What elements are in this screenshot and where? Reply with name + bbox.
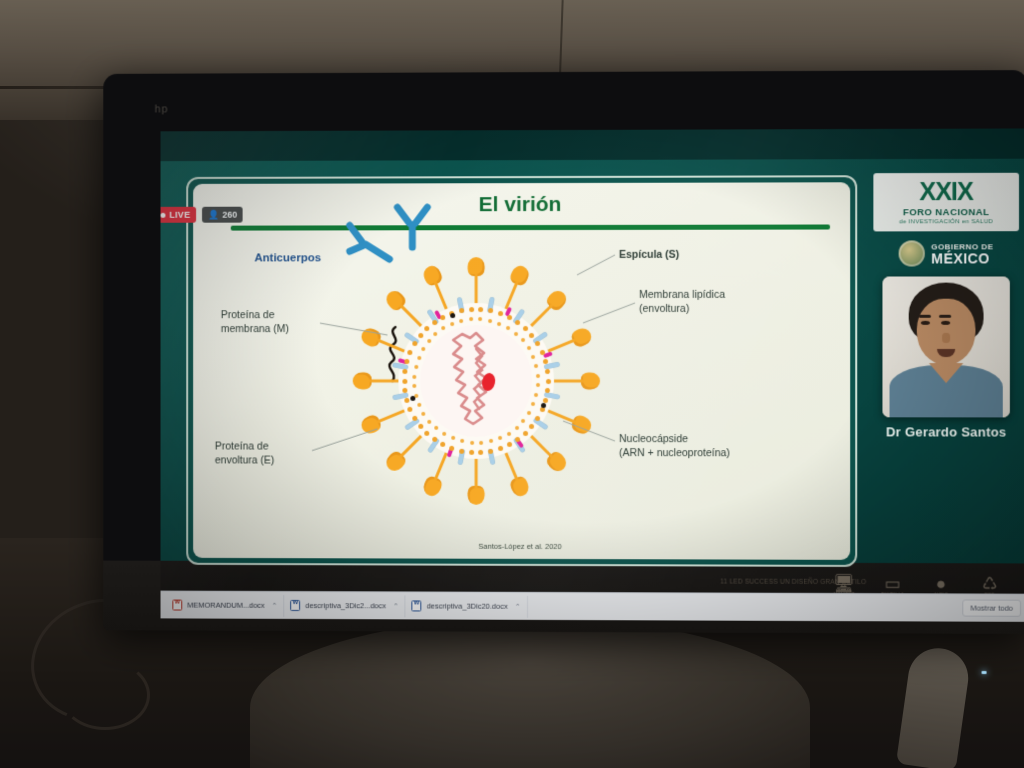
recycle-glyph-icon: ♺ (972, 575, 1006, 592)
download-filename-1: MEMORANDUM...docx (187, 601, 265, 610)
leader-lines (193, 182, 850, 560)
download-bar: MEMORANDUM...docx ⌃ descriptiva_3Dic2...… (161, 591, 1024, 622)
speaker-brow-left (919, 315, 931, 318)
event-logo-roman: XXIX (877, 180, 1015, 205)
live-dot-icon (161, 212, 166, 217)
stream-topbar (161, 128, 1024, 161)
live-badge: LIVE (161, 207, 197, 223)
presentation-slide: El virión (193, 182, 850, 560)
download-chip-1[interactable]: MEMORANDUM...docx ⌃ (166, 594, 284, 616)
speaker-eye-left (921, 321, 930, 325)
speaker-webcam-feed[interactable] (882, 276, 1009, 417)
presentation-slide-frame: El virión (186, 175, 857, 567)
screen-glyph-icon: ▭ (875, 575, 909, 592)
live-label: LIVE (169, 210, 190, 220)
speaker-brow-right (939, 315, 951, 318)
download-chip-3[interactable]: descriptiva_3Dic20.docx ⌃ (406, 595, 528, 617)
power-led-indicator (982, 671, 987, 674)
government-logo-line2: MÉXICO (931, 251, 993, 265)
monitor-brand-mark: hp (155, 103, 169, 115)
download-filename-3: descriptiva_3Dic20.docx (427, 601, 508, 610)
word-doc-icon (290, 600, 300, 611)
live-status-row: LIVE 👤 260 (161, 207, 244, 223)
monitor-glyph-icon: 🖥 (827, 575, 861, 592)
word-doc-icon (172, 600, 182, 611)
eagle-seal-icon (899, 240, 925, 266)
show-all-downloads-button[interactable]: Mostrar todo (962, 599, 1021, 616)
chevron-up-icon-2[interactable]: ⌃ (393, 602, 399, 610)
speaker-name-caption: Dr Gerardo Santos (873, 425, 1019, 440)
viewer-count-badge: 👤 260 (202, 207, 243, 223)
government-logo: GOBIERNO DE MÉXICO (873, 240, 1019, 266)
viewer-count-value: 260 (222, 210, 237, 220)
download-filename-2: descriptiva_3Dic2...docx (305, 601, 386, 610)
livestream-page: LIVE 👤 260 El virión (161, 128, 1024, 621)
speaker-nose (942, 333, 950, 343)
monitor-screen: LIVE 👤 260 El virión (161, 128, 1024, 621)
event-logo: XXIX FORO NACIONAL de INVESTIGACIÓN en S… (873, 173, 1019, 232)
power-cable-secondary (60, 660, 150, 730)
audio-glyph-icon: ● (924, 575, 958, 592)
event-logo-line2: de INVESTIGACIÓN en SALUD (877, 219, 1015, 225)
chevron-up-icon-3[interactable]: ⌃ (515, 602, 521, 610)
person-icon: 👤 (208, 210, 219, 219)
speaker-eye-right (941, 321, 950, 325)
computer-monitor: hp LIVE 👤 260 El virión (103, 70, 1024, 634)
event-logo-line1: FORO NACIONAL (877, 207, 1015, 218)
word-doc-icon (412, 600, 422, 611)
chevron-up-icon-1[interactable]: ⌃ (272, 601, 278, 609)
download-chip-2[interactable]: descriptiva_3Dic2...docx ⌃ (284, 594, 405, 616)
stream-sidebar: XXIX FORO NACIONAL de INVESTIGACIÓN en S… (873, 173, 1019, 568)
